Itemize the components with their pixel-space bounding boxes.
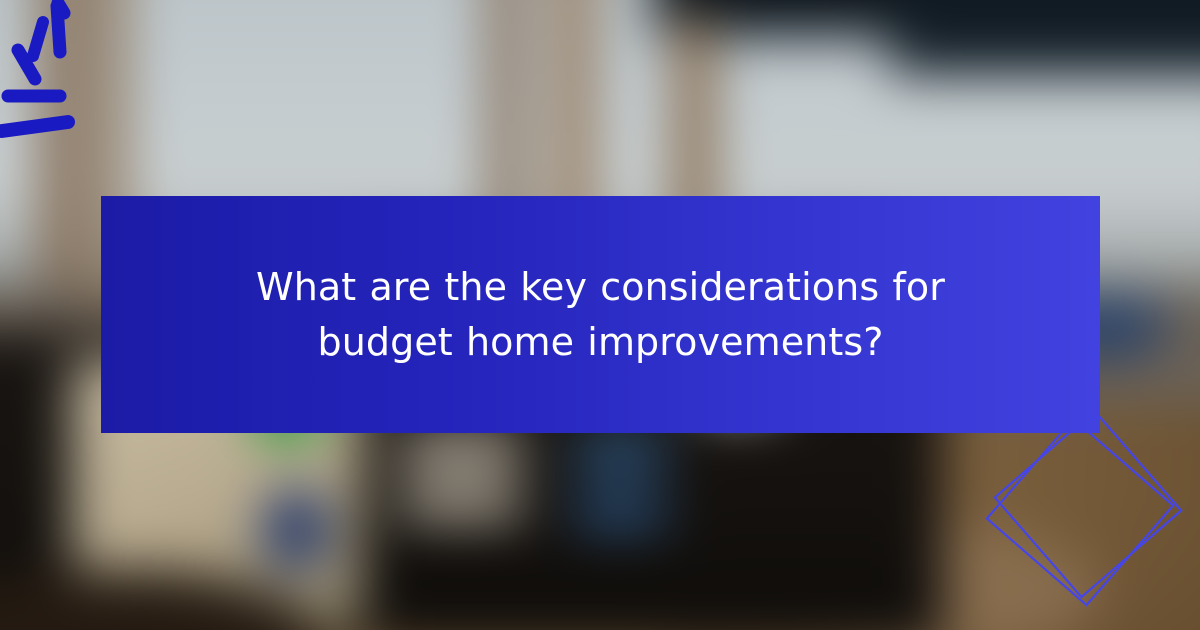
photo-navy-sticker bbox=[263, 488, 329, 571]
photo-usb-port-1 bbox=[574, 435, 666, 469]
rotated-squares-icon bbox=[970, 400, 1200, 630]
headline-card: What are the key considerations for budg… bbox=[101, 196, 1100, 433]
photo-monitor-region-2 bbox=[890, 0, 1200, 75]
headline-text: What are the key considerations for budg… bbox=[231, 260, 971, 370]
photo-port-2 bbox=[402, 488, 521, 518]
photo-usb-port-2 bbox=[574, 495, 666, 529]
photo-port-1 bbox=[402, 435, 521, 465]
banner-card: What are the key considerations for budg… bbox=[0, 0, 1200, 630]
starburst-icon bbox=[0, 0, 180, 160]
